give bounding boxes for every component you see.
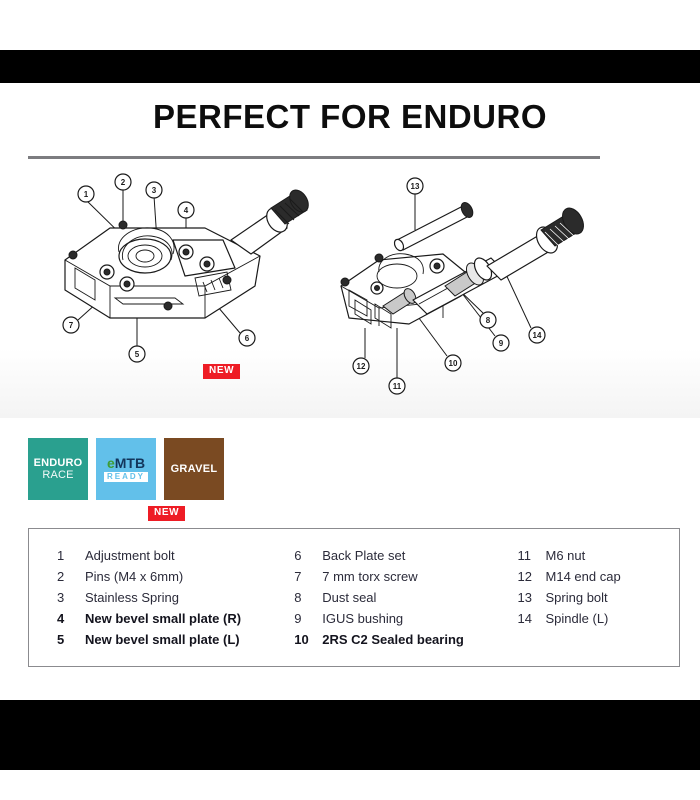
legend-label: Back Plate set [322, 547, 405, 565]
legend-item: 4New bevel small plate (R) [57, 610, 294, 628]
legend-number: 5 [57, 631, 85, 649]
legend-item: 102RS C2 Sealed bearing [294, 631, 517, 649]
legend-number: 11 [518, 547, 546, 565]
callout-10: 10 [445, 355, 461, 371]
legend-number: 8 [294, 589, 322, 607]
legend-item: 2Pins (M4 x 6mm) [57, 568, 294, 586]
legend-column-1: 1Adjustment bolt 2Pins (M4 x 6mm) 3Stain… [29, 547, 294, 666]
legend-number: 7 [294, 568, 322, 586]
svg-text:1: 1 [84, 190, 89, 199]
callout-13: 13 [407, 178, 423, 194]
legend-item: 77 mm torx screw [294, 568, 517, 586]
legend-number: 2 [57, 568, 85, 586]
legend-label: M6 nut [546, 547, 586, 565]
legend-label: M14 end cap [546, 568, 621, 586]
pedal-assembled-view: 1 2 3 4 5 6 7 [55, 168, 355, 418]
legend-item: 9IGUS bushing [294, 610, 517, 628]
legend-item: 8Dust seal [294, 589, 517, 607]
badge-enduro-line2: RACE [42, 469, 73, 481]
legend-label: Spindle (L) [546, 610, 609, 628]
svg-text:13: 13 [411, 182, 420, 191]
svg-text:11: 11 [393, 382, 402, 391]
legend-number: 10 [294, 631, 322, 649]
legend-item: 6Back Plate set [294, 547, 517, 565]
legend-number: 9 [294, 610, 322, 628]
title-divider [28, 156, 600, 159]
legend-label: Spring bolt [546, 589, 608, 607]
legend-number: 13 [518, 589, 546, 607]
legend-number: 14 [518, 610, 546, 628]
legend-label: 7 mm torx screw [322, 568, 417, 586]
product-spec-page: PERFECT FOR ENDURO [0, 0, 700, 800]
svg-text:10: 10 [449, 359, 458, 368]
callout-2: 2 [115, 174, 131, 190]
diagram-panel: 1 2 3 4 5 6 7 [0, 168, 700, 418]
legend-item: 5New bevel small plate (L) [57, 631, 294, 649]
callout-9: 9 [493, 335, 509, 351]
badge-emtb-prefix: e [107, 455, 115, 471]
svg-text:9: 9 [499, 339, 504, 348]
legend-item: 14Spindle (L) [518, 610, 679, 628]
callout-3: 3 [146, 182, 162, 198]
category-badges: ENDURO RACE eMTB READY GRAVEL [28, 438, 224, 500]
badge-gravel-line1: GRAVEL [171, 463, 218, 475]
legend-number: 4 [57, 610, 85, 628]
legend-number: 6 [294, 547, 322, 565]
legend-column-3: 11M6 nut 12M14 end cap 13Spring bolt 14S… [518, 547, 679, 666]
badge-enduro-line1: ENDURO [34, 457, 83, 469]
legend-label: IGUS bushing [322, 610, 403, 628]
legend-label: New bevel small plate (L) [85, 631, 240, 649]
letterbox-top [0, 50, 700, 83]
legend-label: Adjustment bolt [85, 547, 175, 565]
callout-1: 1 [78, 186, 94, 202]
callout-8: 8 [480, 312, 496, 328]
legend-item: 11M6 nut [518, 547, 679, 565]
pedal-exploded-axle-view: 13 8 9 14 10 11 12 [335, 168, 635, 418]
svg-text:7: 7 [69, 321, 74, 330]
legend-label: 2RS C2 Sealed bearing [322, 631, 464, 649]
callout-11: 11 [389, 378, 405, 394]
legend-item: 13Spring bolt [518, 589, 679, 607]
legend-column-2: 6Back Plate set 77 mm torx screw 8Dust s… [294, 547, 517, 666]
badge-emtb-title: eMTB [107, 456, 145, 470]
badge-enduro-race: ENDURO RACE [28, 438, 88, 500]
new-badge-bottom: NEW [148, 506, 185, 521]
badge-emtb-line1: MTB [115, 455, 145, 471]
badge-emtb-line2: READY [104, 472, 148, 482]
svg-text:2: 2 [121, 178, 126, 187]
svg-text:14: 14 [533, 331, 542, 340]
badge-gravel: GRAVEL [164, 438, 224, 500]
callout-5: 5 [129, 346, 145, 362]
legend-label: Stainless Spring [85, 589, 179, 607]
legend-number: 3 [57, 589, 85, 607]
callout-6: 6 [239, 330, 255, 346]
legend-label: Dust seal [322, 589, 376, 607]
legend-item: 3Stainless Spring [57, 589, 294, 607]
badge-emtb-ready: eMTB READY [96, 438, 156, 500]
legend-label: New bevel small plate (R) [85, 610, 241, 628]
parts-legend: 1Adjustment bolt 2Pins (M4 x 6mm) 3Stain… [28, 528, 680, 667]
callout-14: 14 [529, 327, 545, 343]
legend-number: 1 [57, 547, 85, 565]
callout-12: 12 [353, 358, 369, 374]
svg-text:3: 3 [152, 186, 157, 195]
svg-text:5: 5 [135, 350, 140, 359]
legend-number: 12 [518, 568, 546, 586]
page-title: PERFECT FOR ENDURO [0, 98, 700, 136]
svg-text:4: 4 [184, 206, 189, 215]
new-badge-top: NEW [203, 364, 240, 379]
callout-4: 4 [178, 202, 194, 218]
svg-text:8: 8 [486, 316, 491, 325]
svg-text:12: 12 [357, 362, 366, 371]
legend-columns: 1Adjustment bolt 2Pins (M4 x 6mm) 3Stain… [29, 529, 679, 666]
legend-item: 12M14 end cap [518, 568, 679, 586]
svg-text:6: 6 [245, 334, 250, 343]
letterbox-bottom [0, 700, 700, 770]
callout-7: 7 [63, 317, 79, 333]
legend-label: Pins (M4 x 6mm) [85, 568, 183, 586]
legend-item: 1Adjustment bolt [57, 547, 294, 565]
